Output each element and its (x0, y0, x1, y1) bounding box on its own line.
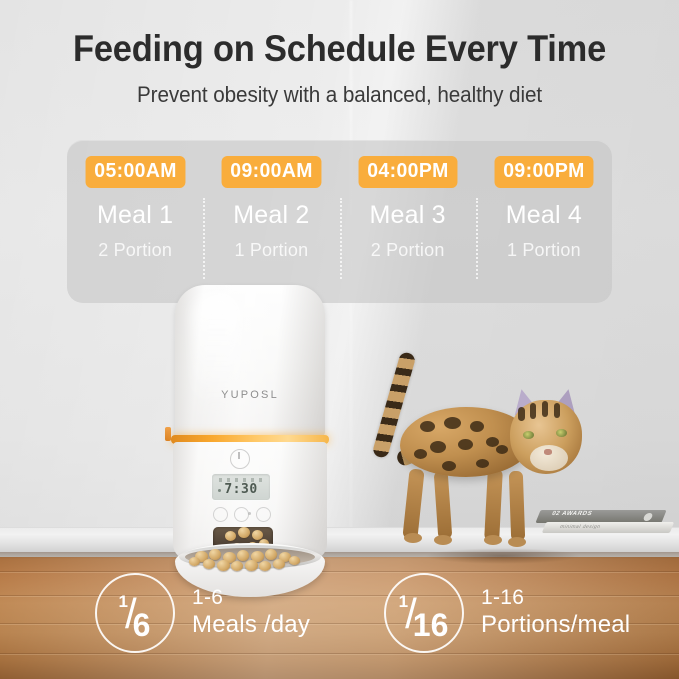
automatic-pet-feeder: YUPOSL 7:30 (163, 285, 338, 575)
page-title: Feeding on Schedule Every Time (24, 28, 655, 70)
mode-button[interactable] (256, 507, 271, 522)
cat-paw (484, 535, 502, 545)
schedule-meal-card: 09:00AM Meal 2 1 Portion (203, 140, 339, 303)
lcd-display: 7:30 (211, 473, 271, 501)
feature-unit-label: Portions/meal (481, 611, 630, 640)
meal-portion-label: 2 Portion (98, 240, 172, 261)
book-title-text: 02 AWARDS (551, 511, 593, 517)
cat-leg (509, 471, 525, 541)
feeding-schedule-panel: 05:00AM Meal 1 2 Portion 09:00AM Meal 2 … (67, 140, 612, 303)
fraction-circle-icon: 1 / 16 (384, 573, 464, 653)
meal-time-badge: 04:00PM (358, 156, 457, 188)
cat-paw (508, 537, 526, 547)
meal-time-badge: 09:00PM (494, 156, 593, 188)
meal-portion-label: 2 Portion (371, 240, 445, 261)
book-subtitle-text: minimal design (559, 524, 602, 530)
meal-time-badge: 05:00AM (85, 156, 185, 188)
meal-name-label: Meal 4 (506, 201, 582, 230)
fraction-circle-icon: 1 / 6 (95, 573, 175, 653)
feature-meals-per-day: 1 / 6 1-6 Meals /day (95, 573, 310, 653)
schedule-meal-card: 04:00PM Meal 3 2 Portion (340, 140, 476, 303)
feed-button[interactable] (234, 507, 249, 522)
cat-leg (484, 469, 503, 542)
meal-name-label: Meal 2 (233, 201, 309, 230)
fraction-denominator: 16 (413, 607, 449, 644)
power-button-icon[interactable] (230, 449, 250, 469)
schedule-meal-card: 09:00PM Meal 4 1 Portion (476, 140, 612, 303)
control-button-row (213, 507, 269, 520)
feature-range-label: 1-16 (481, 586, 630, 611)
meal-name-label: Meal 1 (97, 201, 173, 230)
cat-leg (402, 468, 424, 539)
meal-name-label: Meal 3 (370, 201, 446, 230)
cat-paw (404, 533, 422, 543)
meal-time-badge: 09:00AM (221, 156, 321, 188)
fraction-denominator: 6 (133, 607, 151, 644)
cat-paw (434, 535, 452, 545)
books-on-floor: 02 AWARDS minimal design (538, 508, 679, 542)
cat-leg (434, 471, 453, 540)
schedule-meal-card: 05:00AM Meal 1 2 Portion (67, 140, 203, 303)
lcd-time-readout: 7:30 (212, 482, 270, 497)
cat-eye (556, 429, 567, 437)
meal-portion-label: 1 Portion (507, 240, 581, 261)
button-indicator-dot (248, 512, 251, 515)
meal-portion-label: 1 Portion (234, 240, 308, 261)
set-button[interactable] (213, 507, 228, 522)
product-feature-image: Feeding on Schedule Every Time Prevent o… (0, 0, 679, 679)
cat-nose (544, 449, 552, 455)
feature-portions-per-meal: 1 / 16 1-16 Portions/meal (384, 573, 630, 653)
cat-eye (523, 431, 534, 439)
feature-unit-label: Meals /day (192, 611, 310, 640)
brand-logo-text: YUPOSL (175, 389, 325, 401)
feature-range-label: 1-6 (192, 586, 310, 611)
page-subtitle: Prevent obesity with a balanced, healthy… (20, 82, 658, 108)
